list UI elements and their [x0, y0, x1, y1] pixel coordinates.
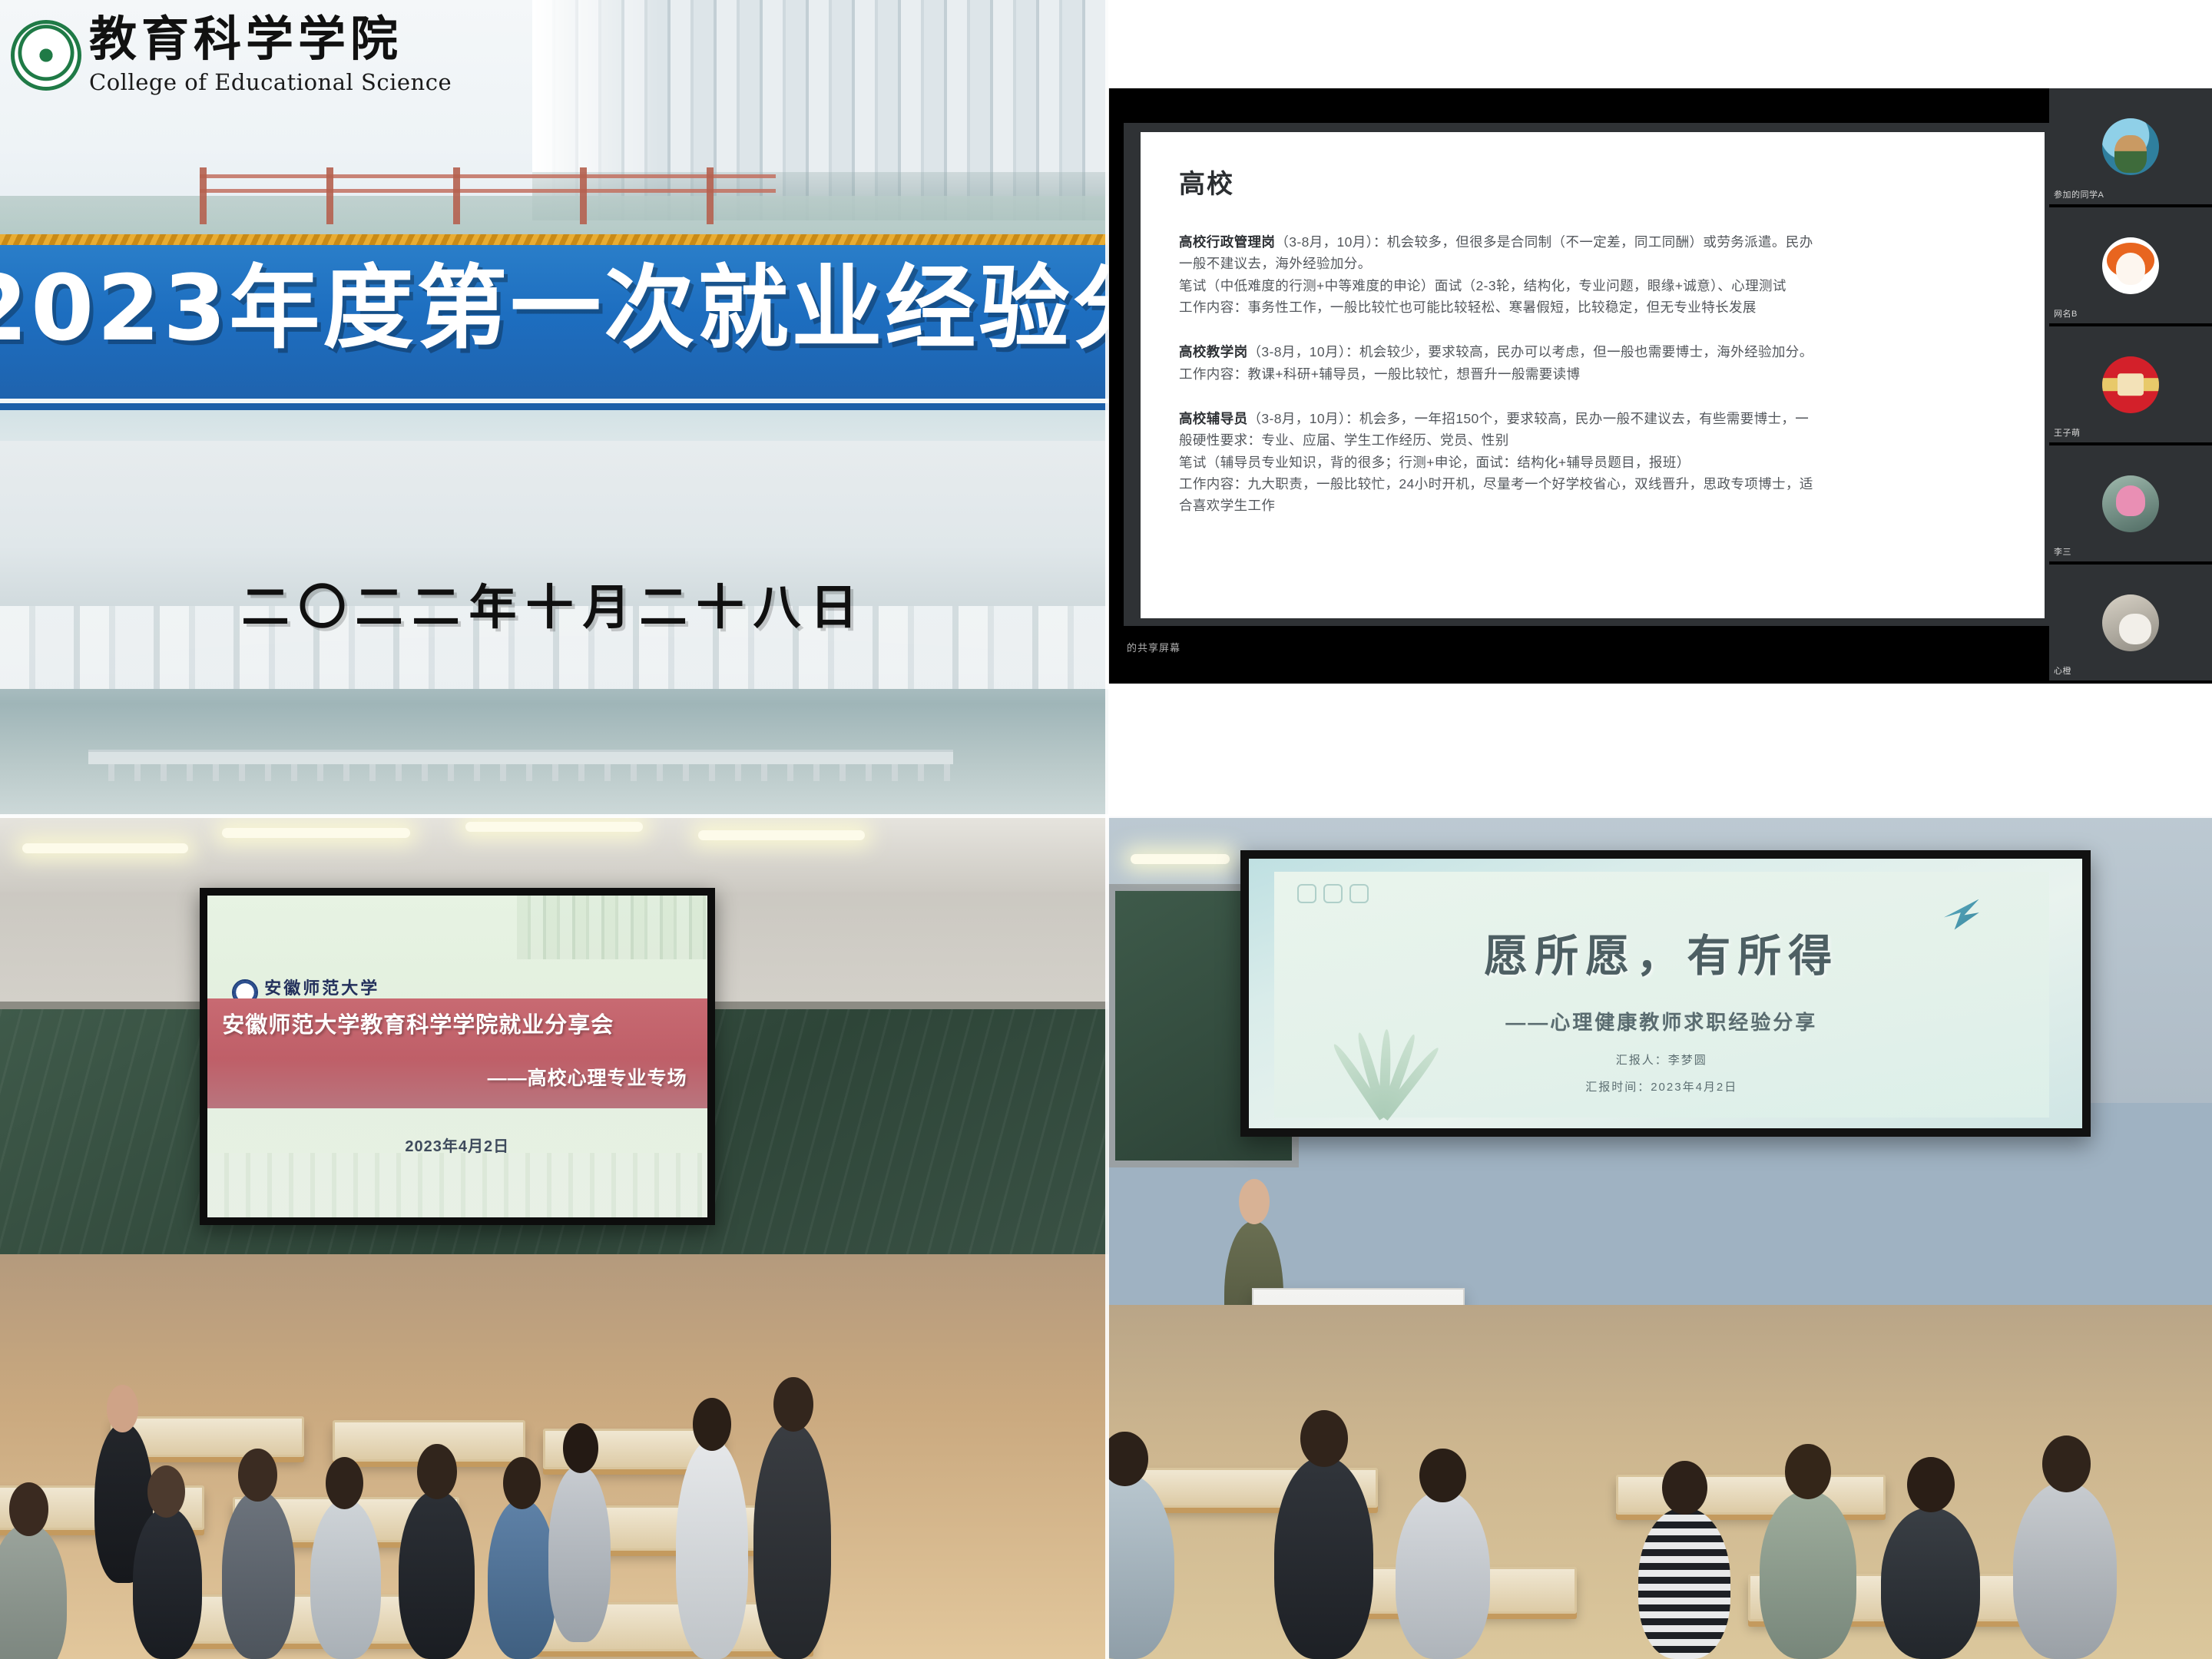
slide-title: 安徽师范大学教育科学学院就业分享会	[222, 1007, 614, 1039]
audience-head	[147, 1465, 185, 1518]
ceiling-light	[22, 843, 188, 853]
audience-member	[548, 1465, 611, 1642]
avatar	[2102, 475, 2159, 532]
avatar	[2102, 594, 2159, 651]
ceiling-light	[222, 828, 410, 838]
audience-member	[1760, 1491, 1856, 1659]
audience-head	[9, 1482, 49, 1536]
slide-line: 工作内容：九大职责，一般比较忙，24小时开机，尽量考一个好学校省心，双线晋升，思…	[1179, 473, 2009, 495]
audience-head	[773, 1377, 813, 1432]
panel-ppt-cover: 教育科学学院 College of Educational Science 20…	[0, 0, 1108, 816]
participant-tile[interactable]: 网名B	[2049, 207, 2212, 326]
projection-screen: 安徽师范大学 ANHUI NORMAL UNIVERSITY 安徽师范大学教育科…	[200, 888, 715, 1225]
audience-head	[417, 1444, 457, 1498]
slide-title: 愿所愿，有所得	[1274, 921, 2049, 984]
avatar	[2102, 356, 2159, 413]
slide-block-admin: 高校行政管理岗（3-8月，10月）：机会较多，但很多是合同制（不一定差，同工同酬…	[1179, 231, 2009, 318]
presenter-head	[1239, 1179, 1270, 1224]
slide-block-teaching: 高校教学岗（3-8月，10月）：机会较少，要求较高，民办可以考虑，但一般也需要博…	[1179, 341, 2009, 385]
audience-member	[1881, 1508, 1980, 1659]
audience-head	[693, 1398, 732, 1451]
participant-name: 李三	[2054, 545, 2071, 558]
projection-screen: 愿所愿，有所得 ——心理健康教师求职经验分享 汇报人：李梦圆 汇报时间：2023…	[1240, 850, 2090, 1137]
title-band-underline	[0, 403, 1108, 410]
university-name-cn: 安徽师范大学	[264, 980, 379, 997]
panel-classroom-speaker: 安徽师范大学 ANHUI NORMAL UNIVERSITY 安徽师范大学教育科…	[0, 816, 1108, 1659]
audience-head	[238, 1449, 277, 1502]
panel-zoom-meeting: 高校 高校行政管理岗（3-8月，10月）：机会较多，但很多是合同制（不一定差，同…	[1108, 0, 2212, 816]
participant-name: 王子萌	[2054, 426, 2081, 439]
audience-member	[1638, 1508, 1731, 1659]
participant-name: 心橙	[2054, 664, 2071, 677]
projected-slide: 愿所愿，有所得 ——心理健康教师求职经验分享 汇报人：李梦圆 汇报时间：2023…	[1249, 859, 2081, 1128]
shared-screen-label: 的共享屏幕	[1127, 640, 1181, 654]
slide-line: 笔试（中低难度的行测+中等难度的申论）面试（2-3轮，结构化，专业问题，眼缘+诚…	[1179, 275, 2009, 296]
audience-head	[1785, 1444, 1831, 1498]
participant-filmstrip[interactable]: 参加的同学A 网名B 王子萌 李三 心橙	[2049, 88, 2212, 684]
participant-tile[interactable]: 参加的同学A	[2049, 88, 2212, 207]
avatar	[2102, 118, 2159, 175]
audience-head	[326, 1457, 363, 1509]
audience-head	[1907, 1457, 1955, 1512]
audience-member	[133, 1508, 201, 1659]
panel-divider-vertical	[1105, 0, 1109, 1659]
zoom-window: 高校 高校行政管理岗（3-8月，10月）：机会较多，但很多是合同制（不一定差，同…	[1108, 88, 2212, 684]
slide-line: 高校行政管理岗（3-8月，10月）：机会较多，但很多是合同制（不一定差，同工同酬…	[1179, 231, 2009, 253]
participant-name: 参加的同学A	[2054, 188, 2104, 200]
participant-name: 网名B	[2054, 307, 2078, 320]
audience-member	[488, 1499, 556, 1659]
college-name-en: College of Educational Science	[89, 69, 452, 95]
slide-line: 笔试（辅导员专业知识，背的很多；行测+申论，面试：结构化+辅导员题目，报班）	[1179, 452, 2009, 473]
shared-screen-stage: 高校 高校行政管理岗（3-8月，10月）：机会较多，但很多是合同制（不一定差，同…	[1124, 123, 2049, 626]
photo-collage: 教育科学学院 College of Educational Science 20…	[0, 0, 2212, 1659]
ceiling-light	[1131, 854, 1230, 864]
shared-slide: 高校 高校行政管理岗（3-8月，10月）：机会较多，但很多是合同制（不一定差，同…	[1141, 132, 2045, 618]
audience-member	[1274, 1457, 1373, 1659]
participant-tile[interactable]: 王子萌	[2049, 326, 2212, 445]
speaker-head	[107, 1385, 139, 1432]
college-logo: 教育科学学院 College of Educational Science	[6, 11, 462, 103]
slide-heading: 高校	[1179, 163, 2009, 200]
audience-member	[676, 1440, 748, 1659]
slide-line: 工作内容：事务性工作，一般比较忙也可能比较轻松、寒暑假短，比较稳定，但无专业特长…	[1179, 296, 2009, 318]
audience-member	[310, 1499, 381, 1659]
slide-line: 一般不建议去，海外经验加分。	[1179, 253, 2009, 274]
audience-member	[399, 1491, 474, 1659]
plant-decoration	[1290, 1029, 1475, 1118]
slide-line: 工作内容：教课+科研+辅导员，一般比较忙，想晋升一般需要读博	[1179, 363, 2009, 385]
slide-line: 高校教学岗（3-8月，10月）：机会较少，要求较高，民办可以考虑，但一般也需要博…	[1179, 341, 2009, 363]
slide-line: 高校辅导员（3-8月，10月）：机会多，一年招150个，要求较高，民办一般不建议…	[1179, 408, 2009, 429]
audience-member	[222, 1491, 295, 1659]
audience-head	[563, 1423, 598, 1473]
desk	[1616, 1475, 1886, 1515]
participant-tile[interactable]: 心橙	[2049, 565, 2212, 684]
decor-chips	[1297, 884, 1369, 903]
avatar	[2102, 237, 2159, 294]
audience-head	[1300, 1410, 1348, 1466]
audience-head	[1419, 1449, 1465, 1502]
cover-title: 2023年度第一次就业经验分享会	[0, 247, 1108, 369]
ceiling-light	[698, 830, 864, 840]
audience-member	[753, 1423, 831, 1659]
college-seal-icon	[11, 20, 81, 91]
audience-head	[503, 1457, 541, 1509]
slide-block-counselor: 高校辅导员（3-8月，10月）：机会多，一年招150个，要求较高，民办一般不建议…	[1179, 408, 2009, 517]
cover-date: 二〇二二年十月二十八日	[0, 568, 1108, 637]
slide-line: 合喜欢学生工作	[1179, 495, 2009, 516]
panel-classroom-presenter: 愿所愿，有所得 ——心理健康教师求职经验分享 汇报人：李梦圆 汇报时间：2023…	[1108, 816, 2212, 1659]
projected-slide: 安徽师范大学 ANHUI NORMAL UNIVERSITY 安徽师范大学教育科…	[207, 896, 707, 1217]
ceiling-light	[465, 822, 643, 832]
red-railing	[200, 167, 776, 208]
slide-line: 般硬性要求：专业、应届、学生工作经历、党员、性别	[1179, 429, 2009, 451]
panel-divider-horizontal	[0, 814, 2212, 818]
audience-head	[2042, 1435, 2091, 1492]
audience-member	[1396, 1491, 1491, 1659]
slide-subtitle: ——高校心理专业专场	[488, 1063, 687, 1091]
college-name-cn: 教育科学学院	[89, 15, 452, 63]
audience-member	[2013, 1482, 2117, 1659]
participant-tile[interactable]: 李三	[2049, 445, 2212, 565]
